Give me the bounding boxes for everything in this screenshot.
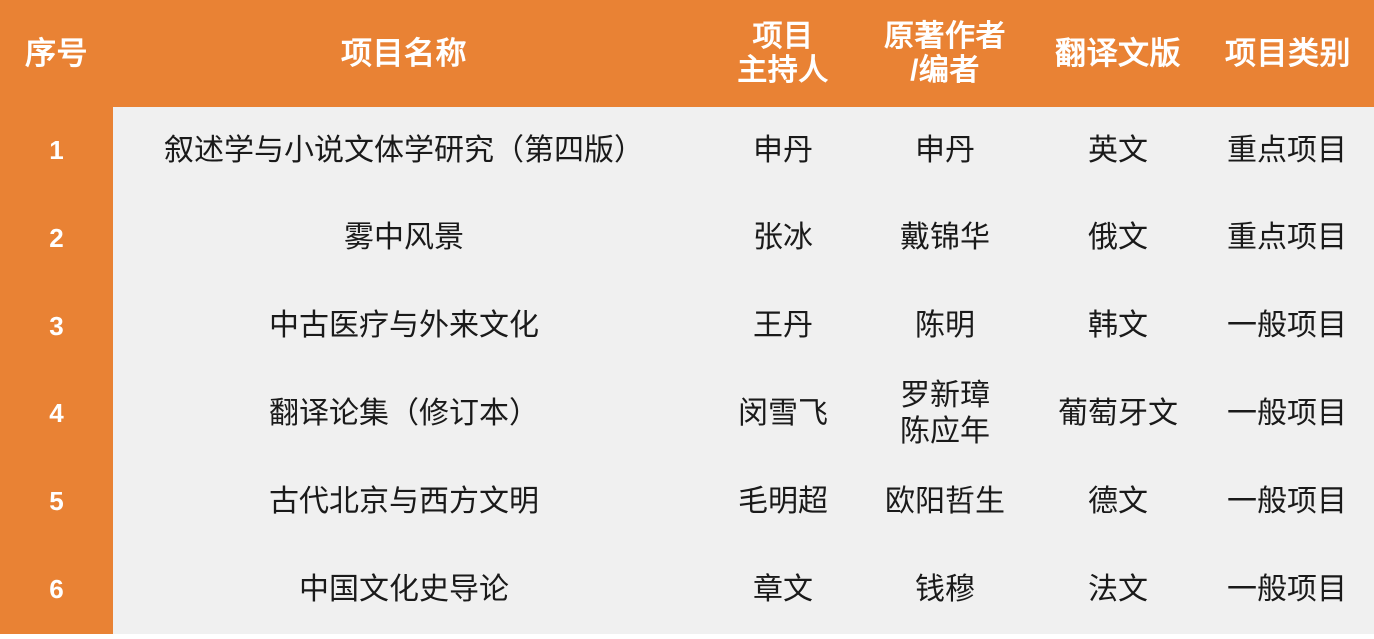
cell-project-name: 中国文化史导论 [113, 546, 695, 634]
table-row: 3中古医疗与外来文化王丹陈明韩文一般项目 [0, 283, 1374, 371]
cell-host: 王丹 [716, 283, 850, 371]
column-header-host: 项目 主持人 [706, 0, 860, 107]
table-row: 6中国文化史导论章文钱穆法文一般项目 [0, 546, 1374, 634]
cell-author: 欧阳哲生 [862, 458, 1028, 546]
cell-category: 重点项目 [1200, 195, 1374, 283]
cell-author: 戴锦华 [862, 195, 1028, 283]
cell-index: 3 [0, 283, 113, 371]
column-header-language: 翻译文版 [1034, 0, 1202, 107]
cell-index: 6 [0, 546, 113, 634]
cell-host: 毛明超 [716, 458, 850, 546]
cell-project-name: 古代北京与西方文明 [113, 458, 695, 546]
cell-host: 申丹 [716, 107, 850, 195]
column-header-index: 序号 [0, 0, 113, 107]
cell-category: 一般项目 [1200, 283, 1374, 371]
cell-index: 1 [0, 107, 113, 195]
cell-language: 俄文 [1038, 195, 1198, 283]
cell-author: 钱穆 [862, 546, 1028, 634]
cell-category: 重点项目 [1200, 107, 1374, 195]
cell-host: 章文 [716, 546, 850, 634]
cell-project-name: 翻译论集（修订本） [113, 371, 695, 459]
cell-author: 申丹 [862, 107, 1028, 195]
cell-project-name: 叙述学与小说文体学研究（第四版） [113, 107, 695, 195]
cell-host: 闵雪飞 [716, 371, 850, 459]
table-row: 1叙述学与小说文体学研究（第四版）申丹申丹英文重点项目 [0, 107, 1374, 195]
cell-language: 德文 [1038, 458, 1198, 546]
table-row: 4翻译论集（修订本）闵雪飞罗新璋 陈应年葡萄牙文一般项目 [0, 371, 1374, 459]
cell-category: 一般项目 [1200, 371, 1374, 459]
table-row: 5古代北京与西方文明毛明超欧阳哲生德文一般项目 [0, 458, 1374, 546]
cell-language: 韩文 [1038, 283, 1198, 371]
cell-host: 张冰 [716, 195, 850, 283]
project-table-canvas: 序号 项目名称 项目 主持人 原著作者 /编者 翻译文版 项目类别 1叙述学与小… [0, 0, 1374, 639]
cell-index: 4 [0, 371, 113, 459]
cell-category: 一般项目 [1200, 458, 1374, 546]
cell-project-name: 雾中风景 [113, 195, 695, 283]
cell-index: 5 [0, 458, 113, 546]
cell-author: 罗新璋 陈应年 [862, 371, 1028, 459]
cell-language: 英文 [1038, 107, 1198, 195]
cell-index: 2 [0, 195, 113, 283]
cell-project-name: 中古医疗与外来文化 [113, 283, 695, 371]
cell-language: 葡萄牙文 [1038, 371, 1198, 459]
cell-author: 陈明 [862, 283, 1028, 371]
column-header-author: 原著作者 /编者 [860, 0, 1030, 107]
cell-category: 一般项目 [1200, 546, 1374, 634]
cell-language: 法文 [1038, 546, 1198, 634]
column-header-category: 项目类别 [1202, 0, 1374, 107]
column-header-project-name: 项目名称 [113, 0, 695, 107]
table-row: 2雾中风景张冰戴锦华俄文重点项目 [0, 195, 1374, 283]
